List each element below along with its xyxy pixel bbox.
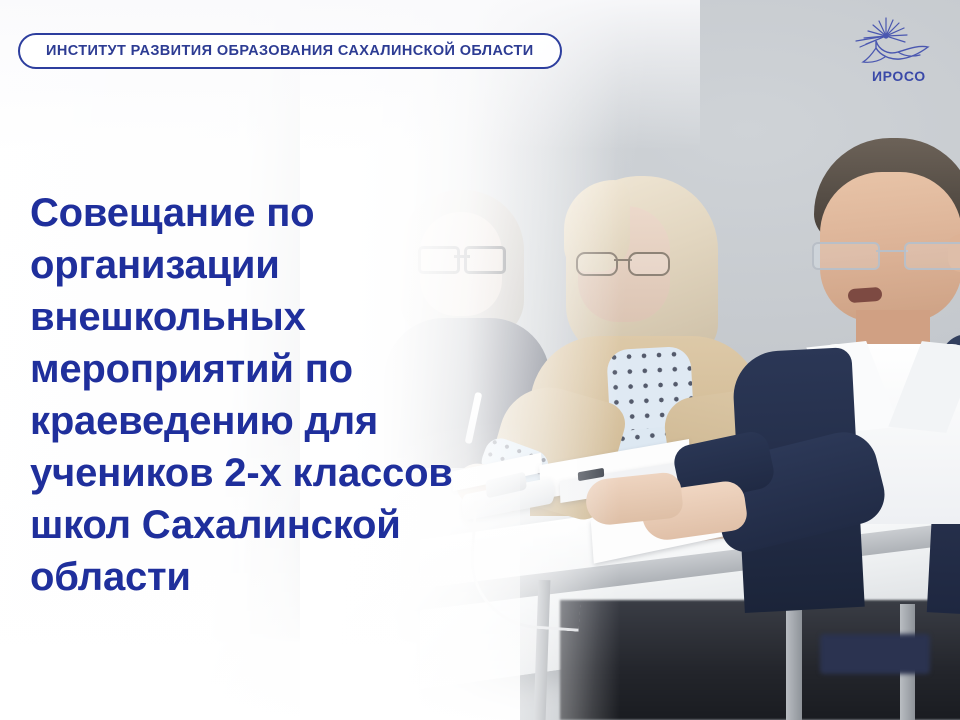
page-title: Совещание по организации внешкольных мер… (30, 187, 550, 603)
iroso-logo: ИРОСО (846, 14, 940, 98)
headline-line: области (30, 551, 550, 603)
poster-canvas: ИНСТИТУТ РАЗВИТИЯ ОБРАЗОВАНИЯ САХАЛИНСКО… (0, 0, 960, 720)
institute-badge: ИНСТИТУТ РАЗВИТИЯ ОБРАЗОВАНИЯ САХАЛИНСКО… (18, 33, 562, 69)
headline-line: мероприятий по (30, 343, 550, 395)
institute-badge-label: ИНСТИТУТ РАЗВИТИЯ ОБРАЗОВАНИЯ САХАЛИНСКО… (46, 43, 534, 59)
photo-top-fade (0, 0, 700, 150)
logo-acronym: ИРОСО (872, 68, 926, 84)
headline-line: школ Сахалинской (30, 499, 550, 551)
headline-line: внешкольных (30, 291, 550, 343)
headline-line: Совещание по (30, 187, 550, 239)
headline-line: краеведению для (30, 395, 550, 447)
headline-line: учеников 2-х классов (30, 447, 550, 499)
headline-line: организации (30, 239, 550, 291)
